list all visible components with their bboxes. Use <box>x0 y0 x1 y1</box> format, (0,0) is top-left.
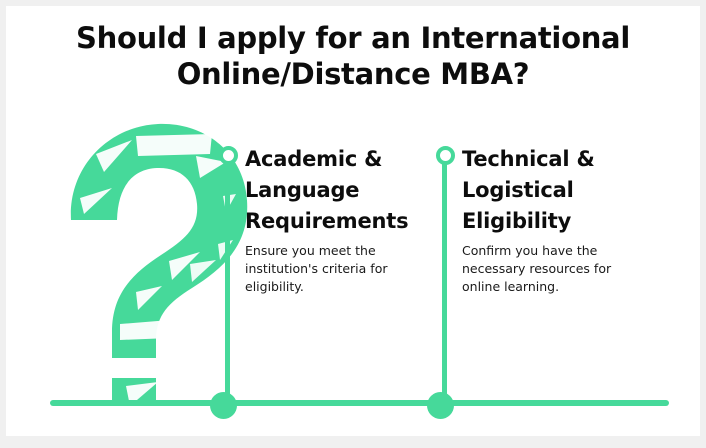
timeline-stem <box>442 156 447 408</box>
timeline-stem <box>225 156 230 408</box>
timeline-top-marker-icon <box>436 146 455 165</box>
timeline-baseline <box>50 400 669 406</box>
infographic-card: Should I apply for an International Onli… <box>6 6 700 436</box>
column-heading-2: Technical & Logistical Eligibility <box>462 144 652 237</box>
page-title: Should I apply for an International Onli… <box>6 20 700 92</box>
column-body-1: Ensure you meet the institution's criter… <box>245 242 425 296</box>
column-body-2: Confirm you have the necessary resources… <box>462 242 642 296</box>
timeline-top-marker-icon <box>219 146 238 165</box>
column-heading-1: Academic & Language Requirements <box>245 144 435 237</box>
